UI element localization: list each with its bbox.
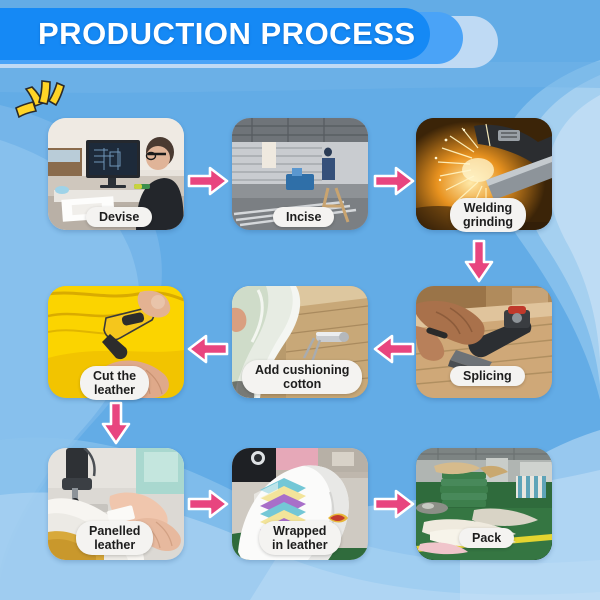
arrow-devise-to-incise — [186, 164, 230, 203]
step-label-pack: Pack — [459, 528, 514, 548]
arrow-welding-to-splicing — [462, 238, 496, 289]
sparkle-burst-icon — [12, 78, 68, 123]
step-label-splicing: Splicing — [450, 366, 525, 386]
production-process-infographic: PRODUCTION PROCESS — [0, 0, 600, 600]
arrow-wrapped-to-pack — [372, 487, 416, 526]
arrow-incise-to-welding — [372, 164, 416, 203]
step-label-welding-grinding: Welding grinding — [450, 198, 526, 232]
step-label-panelled-leather: Panelled leather — [76, 521, 153, 555]
page-title: PRODUCTION PROCESS — [38, 8, 416, 60]
step-label-cut-the-leather: Cut the leather — [80, 366, 149, 400]
step-label-incise: Incise — [273, 207, 334, 227]
step-label-devise: Devise — [86, 207, 152, 227]
step-label-wrapped-in-leather: Wrapped in leather — [259, 521, 341, 555]
arrow-cut-leather-to-panelled — [99, 400, 133, 451]
arrow-cushioning-to-cut-leather — [186, 332, 230, 371]
arrow-splicing-to-cushioning — [372, 332, 416, 371]
step-label-add-cushioning-cotton: Add cushioning cotton — [242, 360, 362, 394]
arrow-panelled-to-wrapped — [186, 487, 230, 526]
